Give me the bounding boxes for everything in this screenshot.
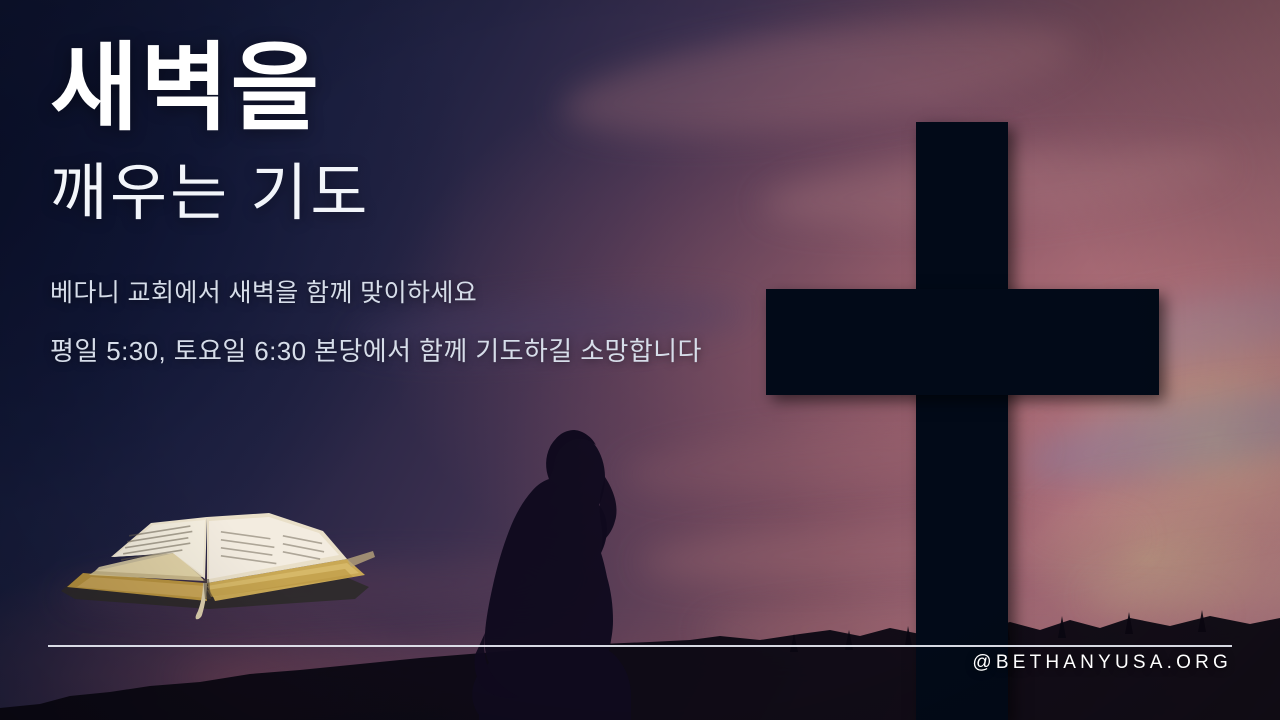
page-title-line2: 깨우는 기도 (50, 160, 370, 228)
open-bible-illustration (55, 487, 375, 622)
tagline-invitation: 베다니 교회에서 새벽을 함께 맞이하세요 (50, 273, 477, 309)
kneeling-person-silhouette (455, 425, 695, 720)
footer-divider (48, 645, 1232, 647)
cross-horizontal-beam (766, 289, 1159, 395)
tagline-schedule: 평일 5:30, 토요일 6:30 본당에서 함께 기도하길 소망합니다 (50, 331, 702, 368)
prayer-meeting-poster: 새벽을 깨우는 기도 베다니 교회에서 새벽을 함께 맞이하세요 평일 5:30… (0, 0, 1280, 720)
page-title-line1: 새벽을 (50, 38, 321, 140)
website-handle[interactable]: @BETHANYUSA.ORG (972, 652, 1232, 674)
cross-vertical-beam (916, 122, 1008, 720)
